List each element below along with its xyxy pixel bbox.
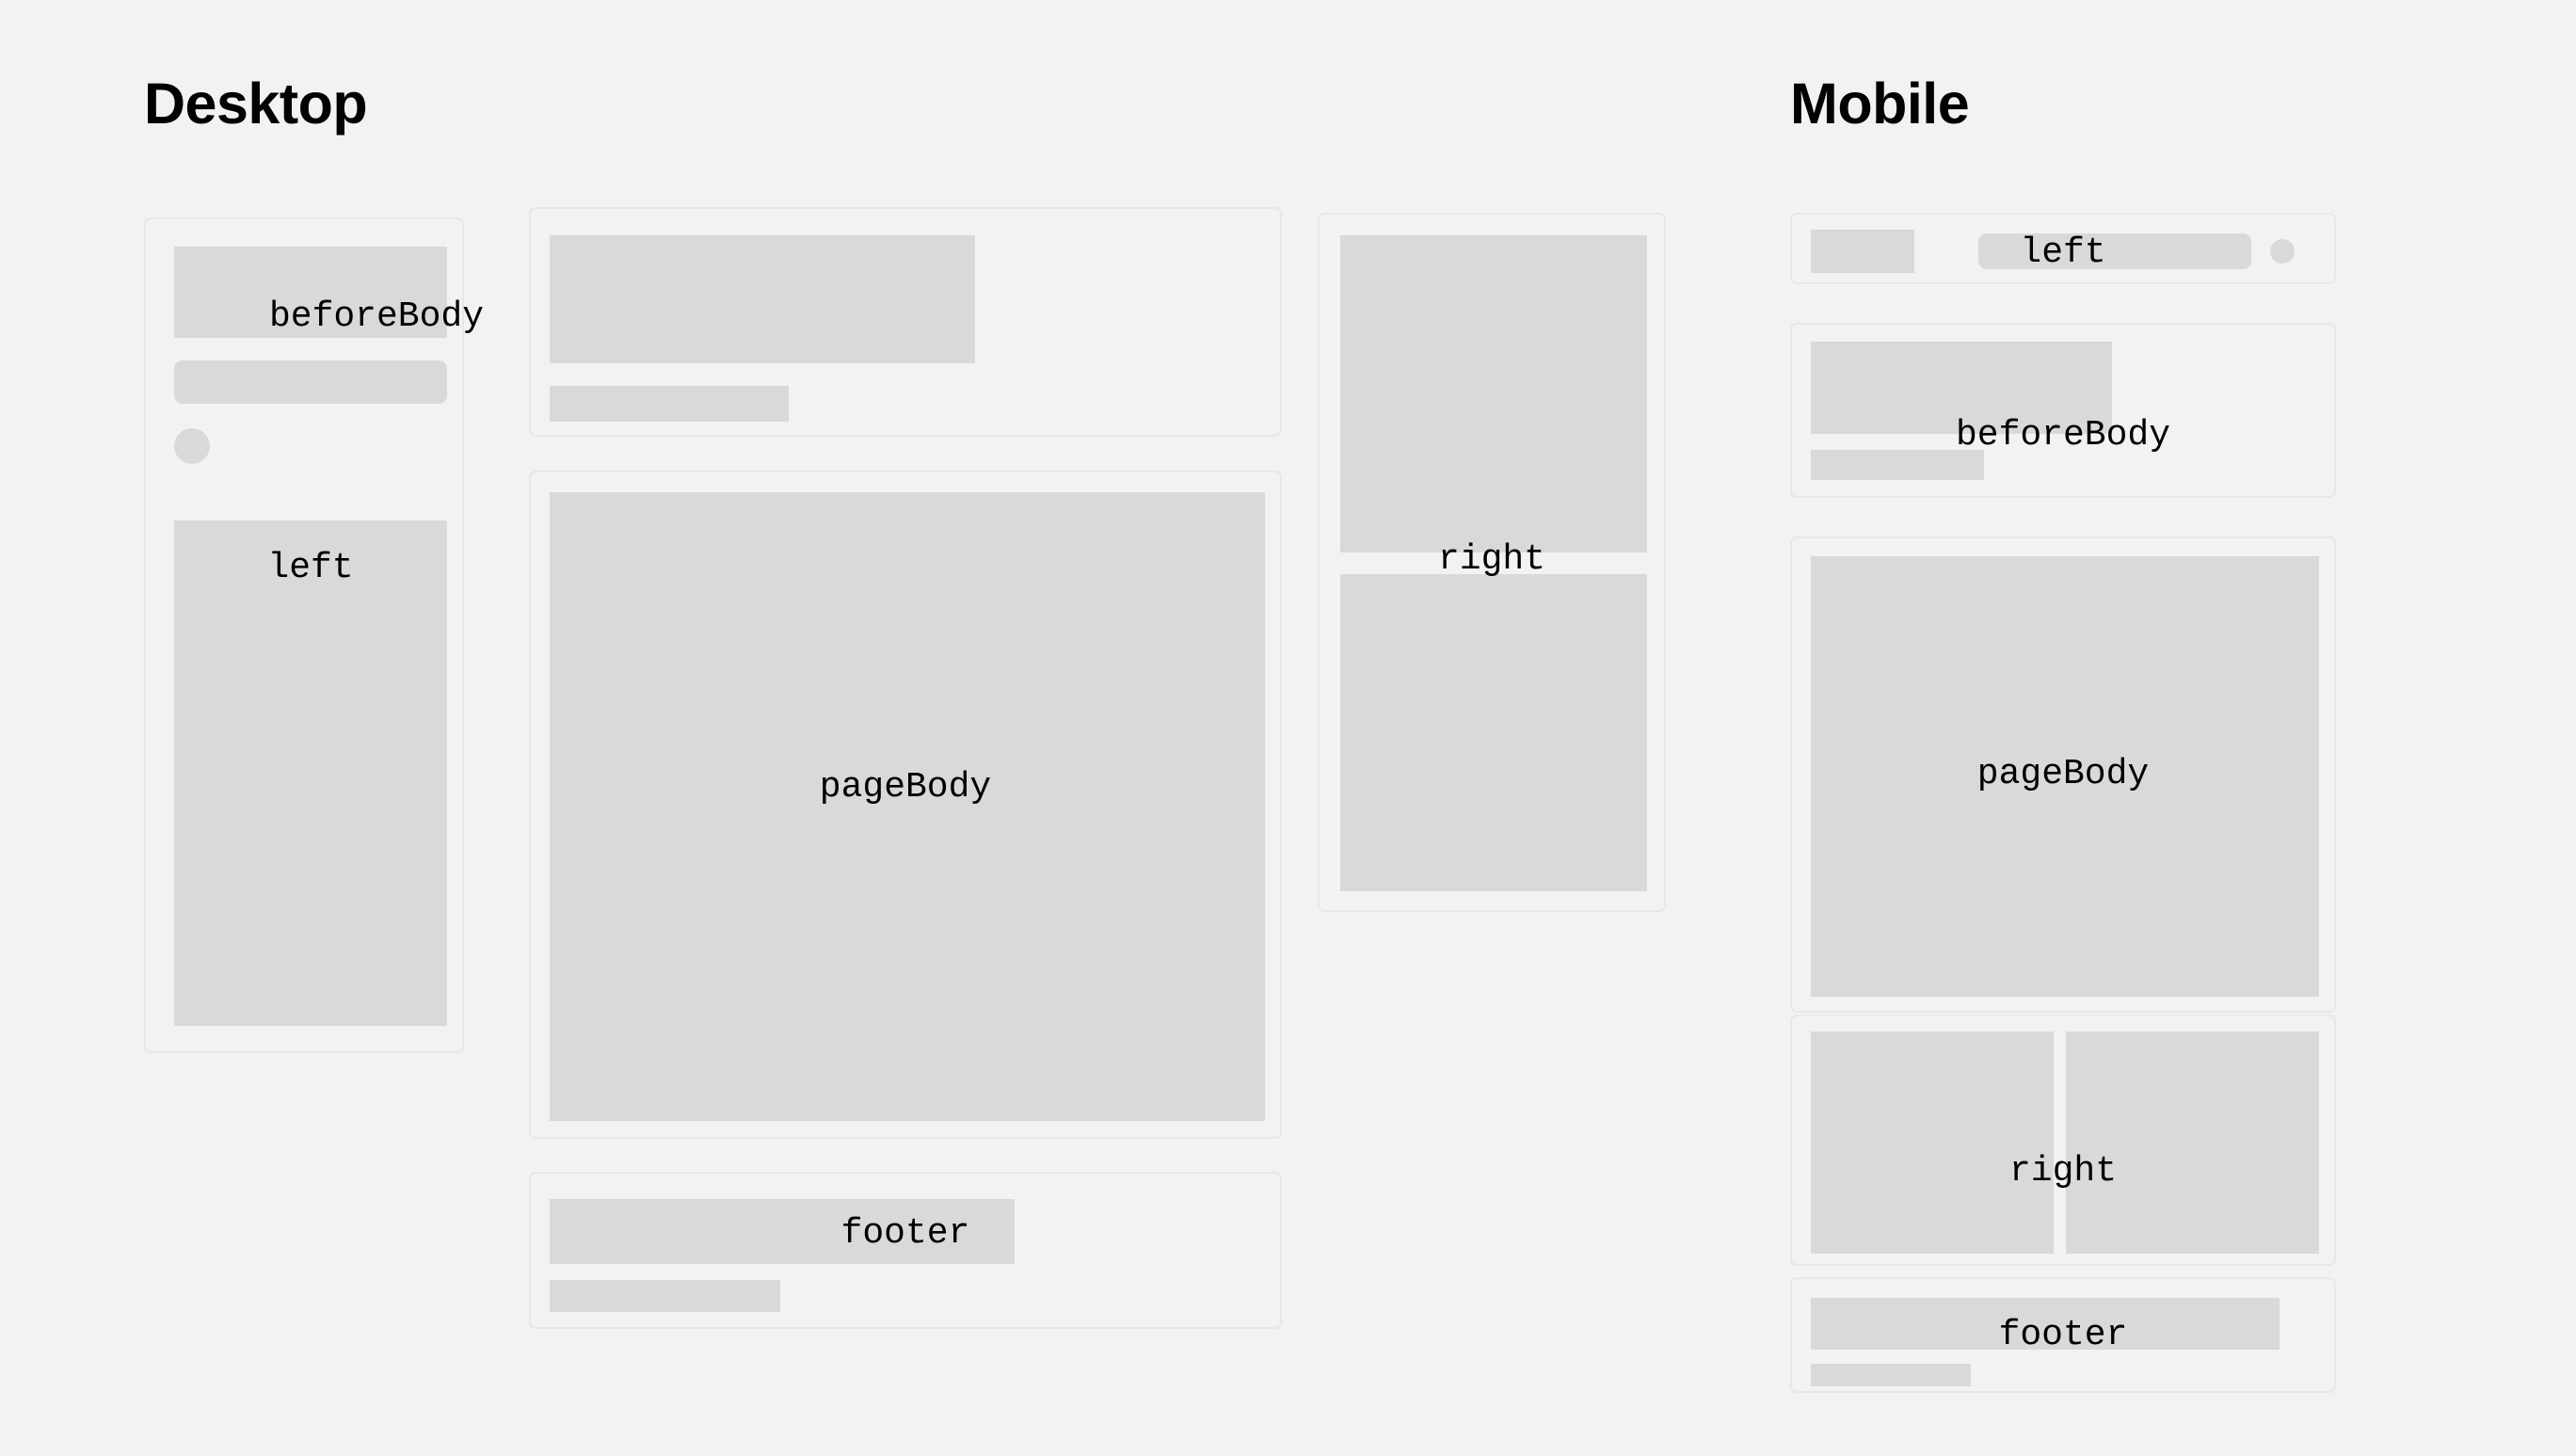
placeholder-bar <box>550 1280 780 1312</box>
desktop-left-panel[interactable]: left <box>144 217 464 1053</box>
placeholder-block <box>1811 1032 2054 1254</box>
placeholder-block <box>1811 556 2319 997</box>
placeholder-block <box>1811 342 2112 434</box>
desktop-before-body-panel[interactable] <box>529 207 1282 437</box>
placeholder-bar <box>1811 450 1984 480</box>
placeholder-block <box>1811 230 1914 273</box>
desktop-footer-panel[interactable] <box>529 1172 1282 1329</box>
mobile-section-title: Mobile <box>1790 75 1969 133</box>
desktop-section-title: Desktop <box>144 75 367 133</box>
placeholder-block <box>550 235 975 363</box>
mobile-footer-panel[interactable] <box>1790 1277 2336 1393</box>
mobile-right-panel[interactable] <box>1790 1015 2336 1266</box>
placeholder-bar <box>174 360 447 404</box>
placeholder-block <box>550 1199 1015 1264</box>
placeholder-block <box>1811 1298 2280 1350</box>
placeholder-block <box>1340 574 1647 891</box>
placeholder-bar <box>1978 233 2251 269</box>
placeholder-bar <box>1811 1364 1971 1386</box>
desktop-page-body-panel[interactable] <box>529 471 1282 1139</box>
placeholder-block <box>550 492 1265 1121</box>
placeholder-bar <box>550 386 789 422</box>
placeholder-circle <box>2270 239 2295 264</box>
placeholder-block <box>174 247 447 338</box>
placeholder-block <box>1340 235 1647 552</box>
placeholder-block <box>174 520 447 1026</box>
placeholder-circle <box>174 428 210 464</box>
mobile-before-body-panel[interactable] <box>1790 323 2336 498</box>
desktop-right-panel[interactable] <box>1318 213 1666 912</box>
placeholder-block <box>2066 1032 2319 1254</box>
mobile-page-body-panel[interactable] <box>1790 536 2336 1013</box>
mobile-left-panel[interactable] <box>1790 213 2336 284</box>
